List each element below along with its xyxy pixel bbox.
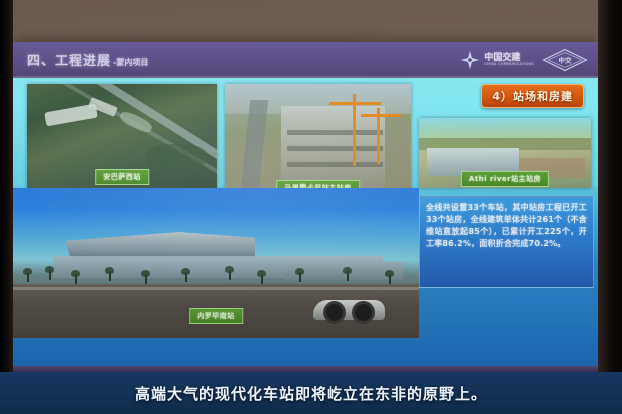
tower-crane-jib [361,114,401,117]
page-title: 四、工程进展-蒙内项目 [27,50,148,69]
car-wheel [352,301,375,324]
palm-tree [71,270,80,284]
car-wheel [323,301,346,324]
photo-nairobi: 内罗毕南站 [13,188,419,338]
aerial-vegetation [147,144,207,170]
palm-tree [181,268,190,282]
palm-tree [23,268,32,282]
highway [240,100,269,198]
photo-sky [419,118,591,138]
palm-tree [385,270,394,284]
palm-tree [225,266,234,280]
right-dark-edge [598,0,622,414]
structure-beam [287,130,383,135]
photo-caption: 内罗毕南站 [189,308,243,324]
foreground-car [313,300,385,320]
slide-header-band: 四、工程进展-蒙内项目 中国交建 CHINA COMMUNICATIONS [13,42,598,78]
palm-tree [257,270,266,284]
compass-star-icon [460,50,480,70]
palm-tree [45,266,54,280]
secondary-diamond-logo: 中交 [542,48,588,72]
logo-group: 中国交建 CHINA COMMUNICATIONS 中交 [460,48,588,72]
statistics-textbox: 全线共设置33个车站，其中站房工程已开工33个站房，全线建筑单体共计261个（不… [419,196,594,288]
structure-beam [287,146,383,151]
photo-caption: 安巴萨西站 [95,169,149,185]
photo-suswa: 安巴萨西站 [27,84,217,188]
road-line [13,287,419,290]
ccc-logo-text: 中国交建 CHINA COMMUNICATIONS [484,54,534,66]
photo-maimahiu: 马里雷卡尼站主站房 [225,84,411,198]
projected-slide-photo: 四、工程进展-蒙内项目 中国交建 CHINA COMMUNICATIONS [0,0,622,414]
ccc-logo-en: CHINA COMMUNICATIONS [484,63,534,66]
tower-crane-jib [329,102,381,105]
presentation-slide: 四、工程进展-蒙内项目 中国交建 CHINA COMMUNICATIONS [13,42,598,372]
palm-tree [105,267,114,281]
subtitle-text: 高端大气的现代化车站即将屹立在东非的原野上。 [135,383,487,404]
slide-body: 安巴萨西站 马里雷卡尼站主站房 [13,78,598,372]
page-title-subtitle: -蒙内项目 [113,58,148,67]
station-roof [65,232,255,258]
section-banner: 4）站场和房建 [481,84,584,108]
left-dark-edge [0,0,13,414]
palm-tree [295,268,304,282]
svg-text:中交: 中交 [559,56,573,65]
photo-caption: Athi river站主站房 [461,171,549,187]
page-title-main: 四、工程进展 [27,54,111,69]
subtitle-bar: 高端大气的现代化车站即将屹立在东非的原野上。 [0,372,622,414]
palm-tree [141,270,150,284]
photo-athiriver: Athi river站主站房 [419,118,591,188]
ccc-logo: 中国交建 CHINA COMMUNICATIONS [460,50,534,70]
structure-beam [287,162,383,167]
palm-tree [343,267,352,281]
